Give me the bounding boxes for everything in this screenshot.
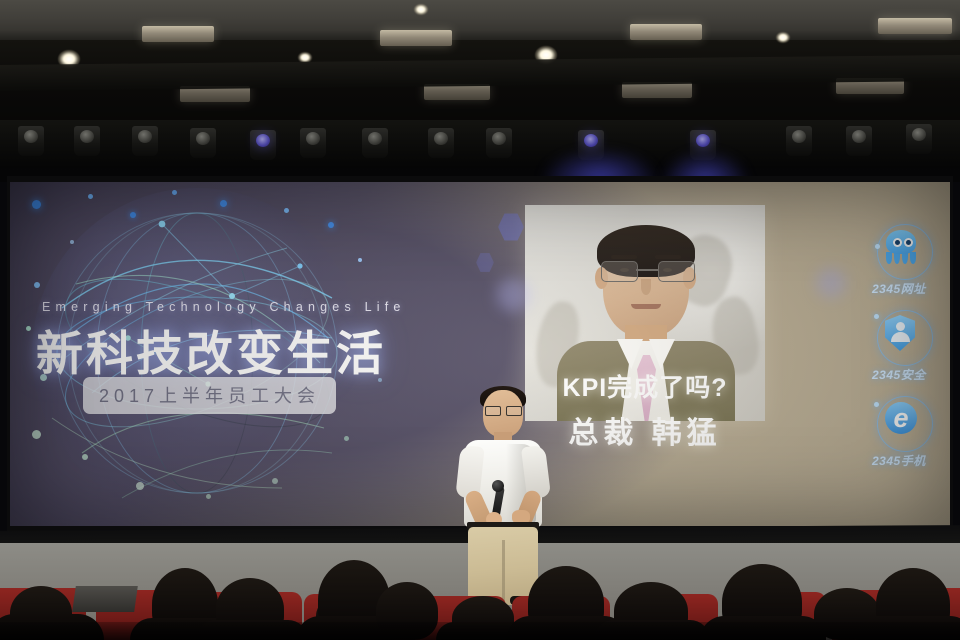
stage-light-fixture: [250, 130, 276, 160]
speaker-glasses: [485, 406, 521, 415]
glasses-lens-left: [601, 261, 638, 282]
speaker-trouser-seam: [502, 540, 505, 605]
particle-dot: [284, 208, 289, 213]
portrait-mouth: [631, 304, 661, 309]
speaker-lens-right: [506, 406, 522, 416]
stage-light-fixture: [362, 128, 388, 158]
stage-light-fixture: [74, 126, 100, 156]
octopus-leg: [886, 252, 892, 264]
ceiling-spotlight: [414, 4, 428, 15]
ceiling-panel-light: [380, 30, 452, 46]
slide-event-badge: 2017上半年员工大会: [83, 377, 336, 414]
stage-light-fixture: [486, 128, 512, 158]
particle-dot: [88, 194, 93, 199]
particle-dot: [344, 436, 349, 441]
octopus-pupil-left: [895, 240, 900, 245]
product-item-navigation: 2345网址: [872, 222, 950, 294]
decorative-hexagon: [498, 212, 524, 242]
speaker-lens-left: [485, 406, 501, 416]
slide-left-panel: Emerging Technology Changes Life 新科技改变生活…: [10, 182, 480, 526]
foreground-shadow: [0, 622, 960, 640]
portrait-glasses: [601, 261, 693, 281]
ceiling-spotlight: [776, 32, 790, 43]
portrait-brow-left: [611, 255, 637, 259]
particle-dot: [70, 240, 74, 244]
particle-dot: [272, 478, 278, 484]
photo-scene: Emerging Technology Changes Life 新科技改变生活…: [0, 0, 960, 640]
ceiling-panel-light: [142, 26, 214, 42]
product-ring-dot: [874, 402, 879, 407]
e-browser-glyph: e: [885, 401, 917, 435]
decorative-light-blob: [496, 278, 530, 312]
particle-dot: [32, 200, 41, 209]
portrait-brow-right: [655, 255, 681, 259]
stage-light-fixture: [428, 128, 454, 158]
particle-dot: [34, 282, 40, 288]
stage-light-fixture: [300, 128, 326, 158]
product-label-browser: 2345手机: [872, 452, 926, 469]
particle-dot: [32, 430, 41, 439]
octopus-pupil-right: [906, 240, 911, 245]
stage-light-fixture: [18, 126, 44, 156]
microphone-head: [492, 480, 504, 492]
particle-dot: [130, 212, 136, 218]
ceiling-panel-light: [630, 24, 702, 40]
slide-headline: 新科技改变生活: [36, 315, 466, 384]
product-label-security: 2345安全: [872, 366, 926, 383]
stage-light-fixture: [132, 126, 158, 156]
product-item-security: 2345安全: [872, 308, 950, 380]
octopus-leg: [910, 252, 916, 264]
speaker-presenter: [448, 390, 558, 605]
octopus-icon: [882, 230, 920, 264]
decorative-light-blob: [816, 268, 846, 298]
glasses-bridge: [636, 269, 658, 271]
particle-dot: [82, 454, 88, 460]
shield-person-head-icon: [896, 322, 905, 331]
particle-dot: [26, 326, 31, 331]
slide-tagline: Emerging Technology Changes Life: [42, 300, 452, 314]
glasses-lens-right: [658, 261, 695, 282]
particle-dot: [206, 494, 211, 499]
particle-dot: [172, 190, 177, 195]
particle-dot: [136, 482, 144, 490]
product-ring-dot: [875, 244, 880, 249]
stage-light-fixture: [786, 126, 812, 156]
stage-light-fixture: [190, 128, 216, 158]
stage-light-fixture: [906, 124, 932, 154]
ceiling-panel-light: [878, 18, 952, 34]
stage-light-fixture: [846, 126, 872, 156]
product-item-browser: e 2345手机: [872, 394, 950, 466]
product-label-navigation: 2345网址: [872, 280, 926, 297]
particle-dot: [328, 222, 334, 228]
particle-dot: [358, 258, 362, 262]
product-ring-dot: [874, 314, 879, 319]
portrait-nose: [641, 279, 651, 295]
laptop-on-seat: [72, 586, 138, 612]
particle-dot: [220, 200, 227, 207]
